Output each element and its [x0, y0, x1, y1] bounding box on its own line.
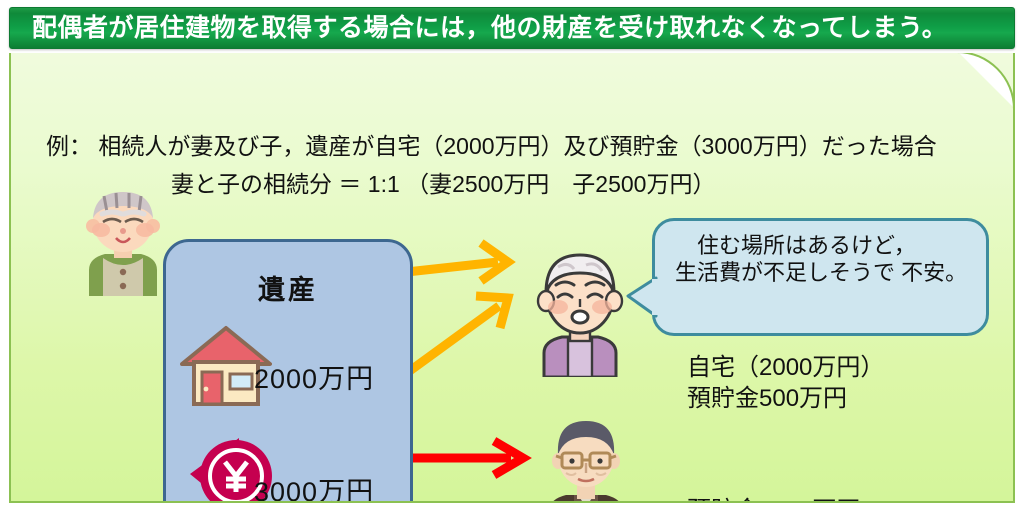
speech-bubble-tail: [626, 276, 658, 320]
middle-aged-man-glasses-icon: [536, 411, 636, 503]
panel-corner-decoration: [955, 53, 1015, 111]
elderly-man-icon: [71, 184, 175, 296]
example-line-2: 妻と子の相続分 ＝ 1:1 （妻2500万円 子2500万円）: [171, 173, 715, 196]
son-share-line-1: 預貯金2500万円: [687, 496, 860, 503]
estate-box: 遺産 2: [163, 239, 413, 503]
son-share-label: 預貯金2500万円: [687, 496, 860, 503]
speech-bubble: 住む場所はあるけど， 生活費が不足しそうで 不安。: [652, 218, 989, 336]
estate-amount-cash: 3000万円: [254, 470, 374, 503]
speech-line-1: 住む場所はあるけど，: [675, 233, 975, 260]
slide-root: 配偶者が居住建物を取得する場合には，他の財産を受け取れなくなってしまう。 例： …: [0, 0, 1024, 510]
header-banner: 配偶者が居住建物を取得する場合には，他の財産を受け取れなくなってしまう。: [9, 7, 1015, 49]
speech-line-2: 生活費が不足しそうで: [675, 260, 895, 285]
example-line-1: 例： 相続人が妻及び子，遺産が自宅（2000万円）及び預貯金（3000万円）だっ…: [46, 135, 937, 158]
content-panel: 例： 相続人が妻及び子，遺産が自宅（2000万円）及び預貯金（3000万円）だっ…: [9, 53, 1015, 503]
estate-amount-house: 2000万円: [254, 357, 374, 396]
widow-share-label: 自宅（2000万円） 預貯金500万円: [687, 353, 884, 414]
speech-bubble-text: 住む場所はあるけど， 生活費が不足しそうで 不安。: [675, 233, 975, 287]
widow-share-line-1: 自宅（2000万円）: [687, 353, 884, 384]
elderly-woman-worried-icon: [524, 245, 636, 377]
speech-line-3: 不安。: [901, 260, 967, 285]
page-title: 配偶者が居住建物を取得する場合には，他の財産を受け取れなくなってしまう。: [10, 16, 947, 41]
widow-share-line-2: 預貯金500万円: [687, 384, 884, 415]
estate-box-label: 遺産: [166, 268, 410, 307]
